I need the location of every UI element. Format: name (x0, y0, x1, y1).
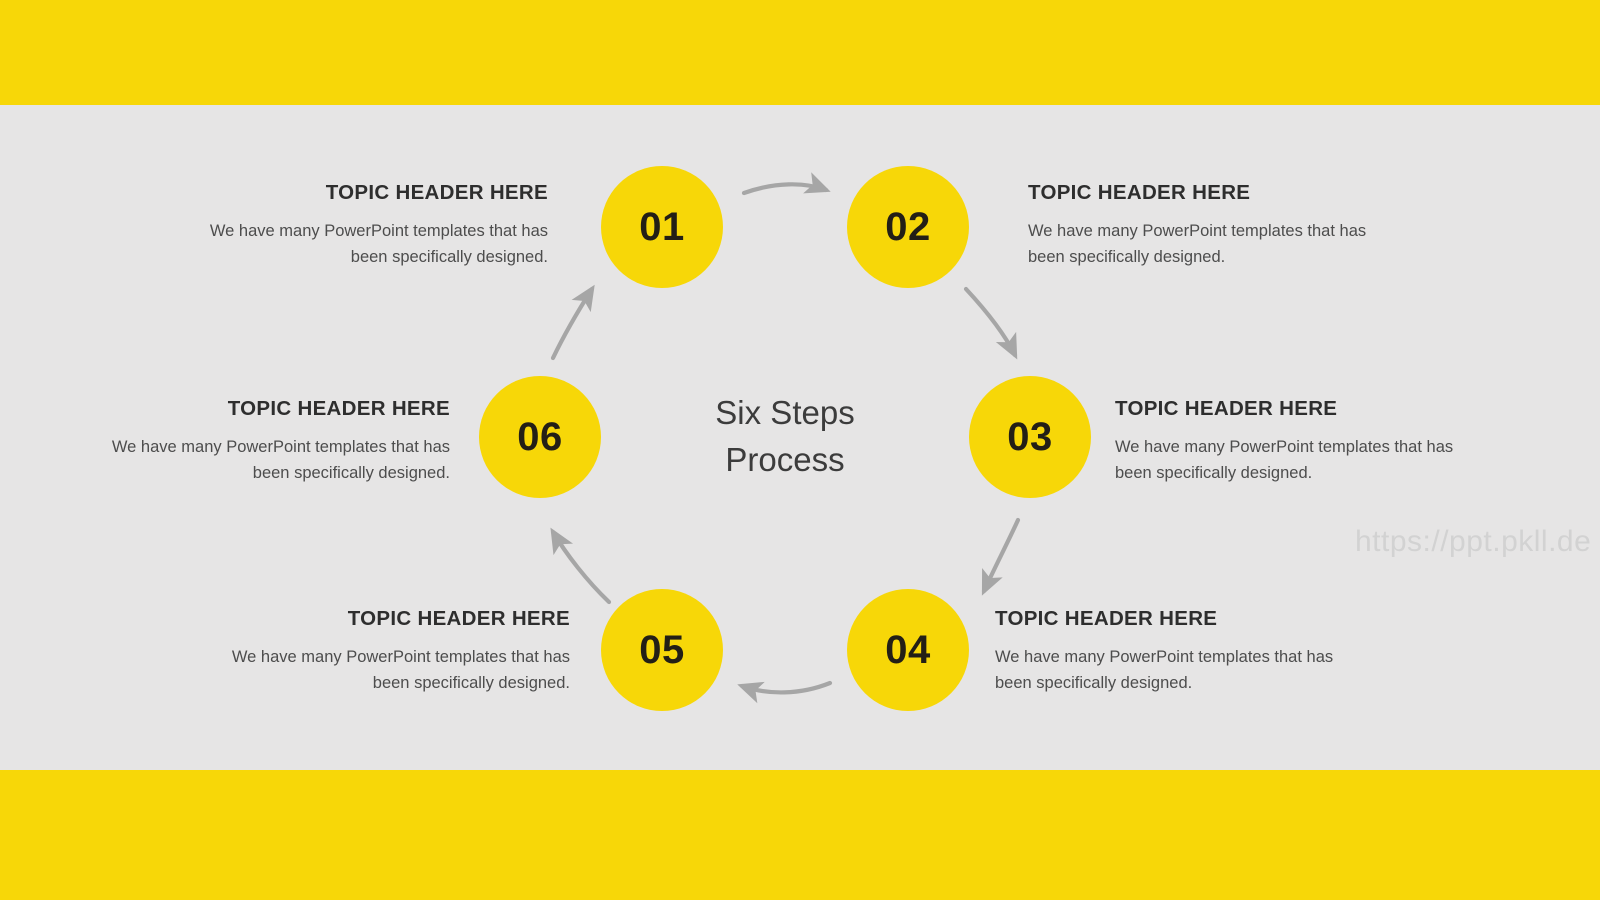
step-node-06[interactable]: 06 (479, 376, 601, 498)
arrow-04-to-05 (742, 683, 830, 692)
step-header-02: TOPIC HEADER HERE (1028, 181, 1398, 205)
step-number-05: 05 (639, 628, 685, 673)
step-number-01: 01 (639, 205, 685, 250)
step-text-05: TOPIC HEADER HERE We have many PowerPoin… (200, 607, 570, 697)
step-header-04: TOPIC HEADER HERE (995, 607, 1365, 631)
step-node-05[interactable]: 05 (601, 589, 723, 711)
bottom-yellow-band (0, 770, 1600, 900)
step-node-03[interactable]: 03 (969, 376, 1091, 498)
step-node-04[interactable]: 04 (847, 589, 969, 711)
top-yellow-band (0, 0, 1600, 105)
slide-canvas: 01 02 03 04 05 06 Six Steps Process TOPI… (0, 0, 1600, 900)
step-number-02: 02 (885, 205, 931, 250)
step-text-01: TOPIC HEADER HERE We have many PowerPoin… (178, 181, 548, 271)
step-number-06: 06 (517, 415, 563, 460)
step-body-06: We have many PowerPoint templates that h… (80, 434, 450, 487)
step-body-05: We have many PowerPoint templates that h… (200, 644, 570, 697)
watermark: https://ppt.pkll.de (1355, 525, 1591, 559)
step-header-01: TOPIC HEADER HERE (178, 181, 548, 205)
arrow-03-to-04 (984, 520, 1018, 591)
step-body-02: We have many PowerPoint templates that h… (1028, 218, 1398, 271)
step-body-01: We have many PowerPoint templates that h… (178, 218, 548, 271)
step-node-01[interactable]: 01 (601, 166, 723, 288)
arrow-02-to-03 (966, 289, 1015, 355)
step-header-03: TOPIC HEADER HERE (1115, 397, 1485, 421)
step-number-03: 03 (1007, 415, 1053, 460)
diagram-stage: 01 02 03 04 05 06 Six Steps Process TOPI… (0, 105, 1600, 770)
step-text-03: TOPIC HEADER HERE We have many PowerPoin… (1115, 397, 1485, 487)
step-text-02: TOPIC HEADER HERE We have many PowerPoin… (1028, 181, 1398, 271)
arrow-01-to-02 (744, 184, 826, 193)
step-body-03: We have many PowerPoint templates that h… (1115, 434, 1485, 487)
arrow-05-to-06 (553, 532, 609, 602)
step-text-04: TOPIC HEADER HERE We have many PowerPoin… (995, 607, 1365, 697)
center-title-line1: Six Steps (660, 390, 910, 437)
step-node-02[interactable]: 02 (847, 166, 969, 288)
arrow-06-to-01 (553, 289, 592, 358)
step-body-04: We have many PowerPoint templates that h… (995, 644, 1365, 697)
step-header-06: TOPIC HEADER HERE (80, 397, 450, 421)
step-text-06: TOPIC HEADER HERE We have many PowerPoin… (80, 397, 450, 487)
center-title: Six Steps Process (660, 390, 910, 484)
step-header-05: TOPIC HEADER HERE (200, 607, 570, 631)
center-title-line2: Process (660, 437, 910, 484)
step-number-04: 04 (885, 628, 931, 673)
